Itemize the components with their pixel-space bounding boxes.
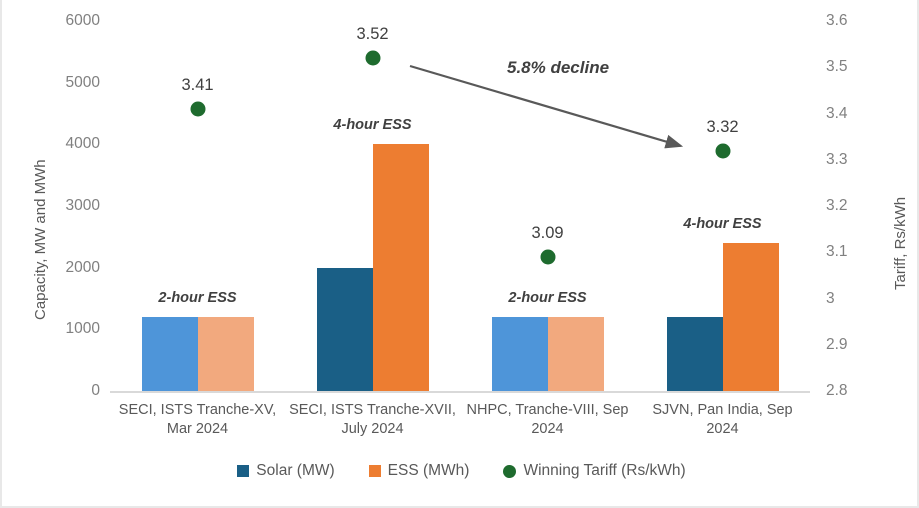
y-tick-label: 6000 (40, 12, 100, 30)
decline-annotation: 5.8% decline (507, 58, 609, 78)
plot-area: 3.413.523.093.32 (110, 21, 810, 391)
y2-tick-label: 3.1 (826, 243, 848, 261)
y-tick-label: 1000 (40, 320, 100, 338)
tariff-marker (540, 249, 555, 264)
tariff-data-label: 3.09 (531, 224, 563, 243)
legend-item[interactable]: ESS (MWh) (369, 462, 470, 480)
y2-tick-label: 3.4 (826, 105, 848, 123)
y2-tick-label: 3.3 (826, 151, 848, 169)
x-category-label: SECI, ISTS Tranche-XVII, July 2024 (285, 401, 460, 439)
y-tick-label: 0 (40, 382, 100, 400)
ess-duration-label: 2-hour ESS (508, 290, 586, 306)
legend-circle-icon (503, 465, 516, 478)
legend-item[interactable]: Winning Tariff (Rs/kWh) (503, 462, 685, 480)
ess-duration-label: 2-hour ESS (158, 290, 236, 306)
tariff-marker (715, 143, 730, 158)
chart-container: Capacity, MW and MWh Tariff, Rs/kWh 0100… (0, 0, 919, 508)
ess-duration-label: 4-hour ESS (683, 216, 761, 232)
legend-label: ESS (MWh) (388, 462, 470, 480)
legend-item[interactable]: Solar (MW) (237, 462, 334, 480)
ess-duration-label: 4-hour ESS (333, 117, 411, 133)
y-axis-title: Capacity, MW and MWh (32, 159, 49, 320)
bar-ess (373, 144, 429, 391)
legend-square-icon (237, 465, 249, 477)
tariff-data-label: 3.32 (706, 118, 738, 137)
y-tick-label: 2000 (40, 259, 100, 277)
y2-tick-label: 2.9 (826, 336, 848, 354)
y2-tick-label: 3.2 (826, 197, 848, 215)
legend-label: Winning Tariff (Rs/kWh) (523, 462, 685, 480)
y-tick-label: 5000 (40, 74, 100, 92)
bar-ess (198, 317, 254, 391)
y2-axis-title: Tariff, Rs/kWh (892, 197, 909, 290)
bar-ess (723, 243, 779, 391)
bar-solar (492, 317, 548, 391)
x-category-label: SECI, ISTS Tranche-XV, Mar 2024 (110, 401, 285, 439)
bar-ess (548, 317, 604, 391)
bar-solar (317, 268, 373, 391)
y2-tick-label: 2.8 (826, 382, 848, 400)
tariff-marker (365, 51, 380, 66)
bar-solar (142, 317, 198, 391)
y-tick-label: 4000 (40, 135, 100, 153)
legend-label: Solar (MW) (256, 462, 334, 480)
tariff-data-label: 3.41 (181, 76, 213, 95)
tariff-marker (190, 101, 205, 116)
bar-solar (667, 317, 723, 391)
chart-legend: Solar (MW)ESS (MWh)Winning Tariff (Rs/kW… (2, 462, 919, 480)
x-category-label: SJVN, Pan India, Sep 2024 (635, 401, 810, 439)
y2-tick-label: 3 (826, 290, 835, 308)
x-axis-line (110, 391, 810, 393)
tariff-data-label: 3.52 (356, 25, 388, 44)
y-tick-label: 3000 (40, 197, 100, 215)
legend-square-icon (369, 465, 381, 477)
y2-tick-label: 3.5 (826, 58, 848, 76)
x-category-label: NHPC, Tranche-VIII, Sep 2024 (460, 401, 635, 439)
y2-tick-label: 3.6 (826, 12, 848, 30)
